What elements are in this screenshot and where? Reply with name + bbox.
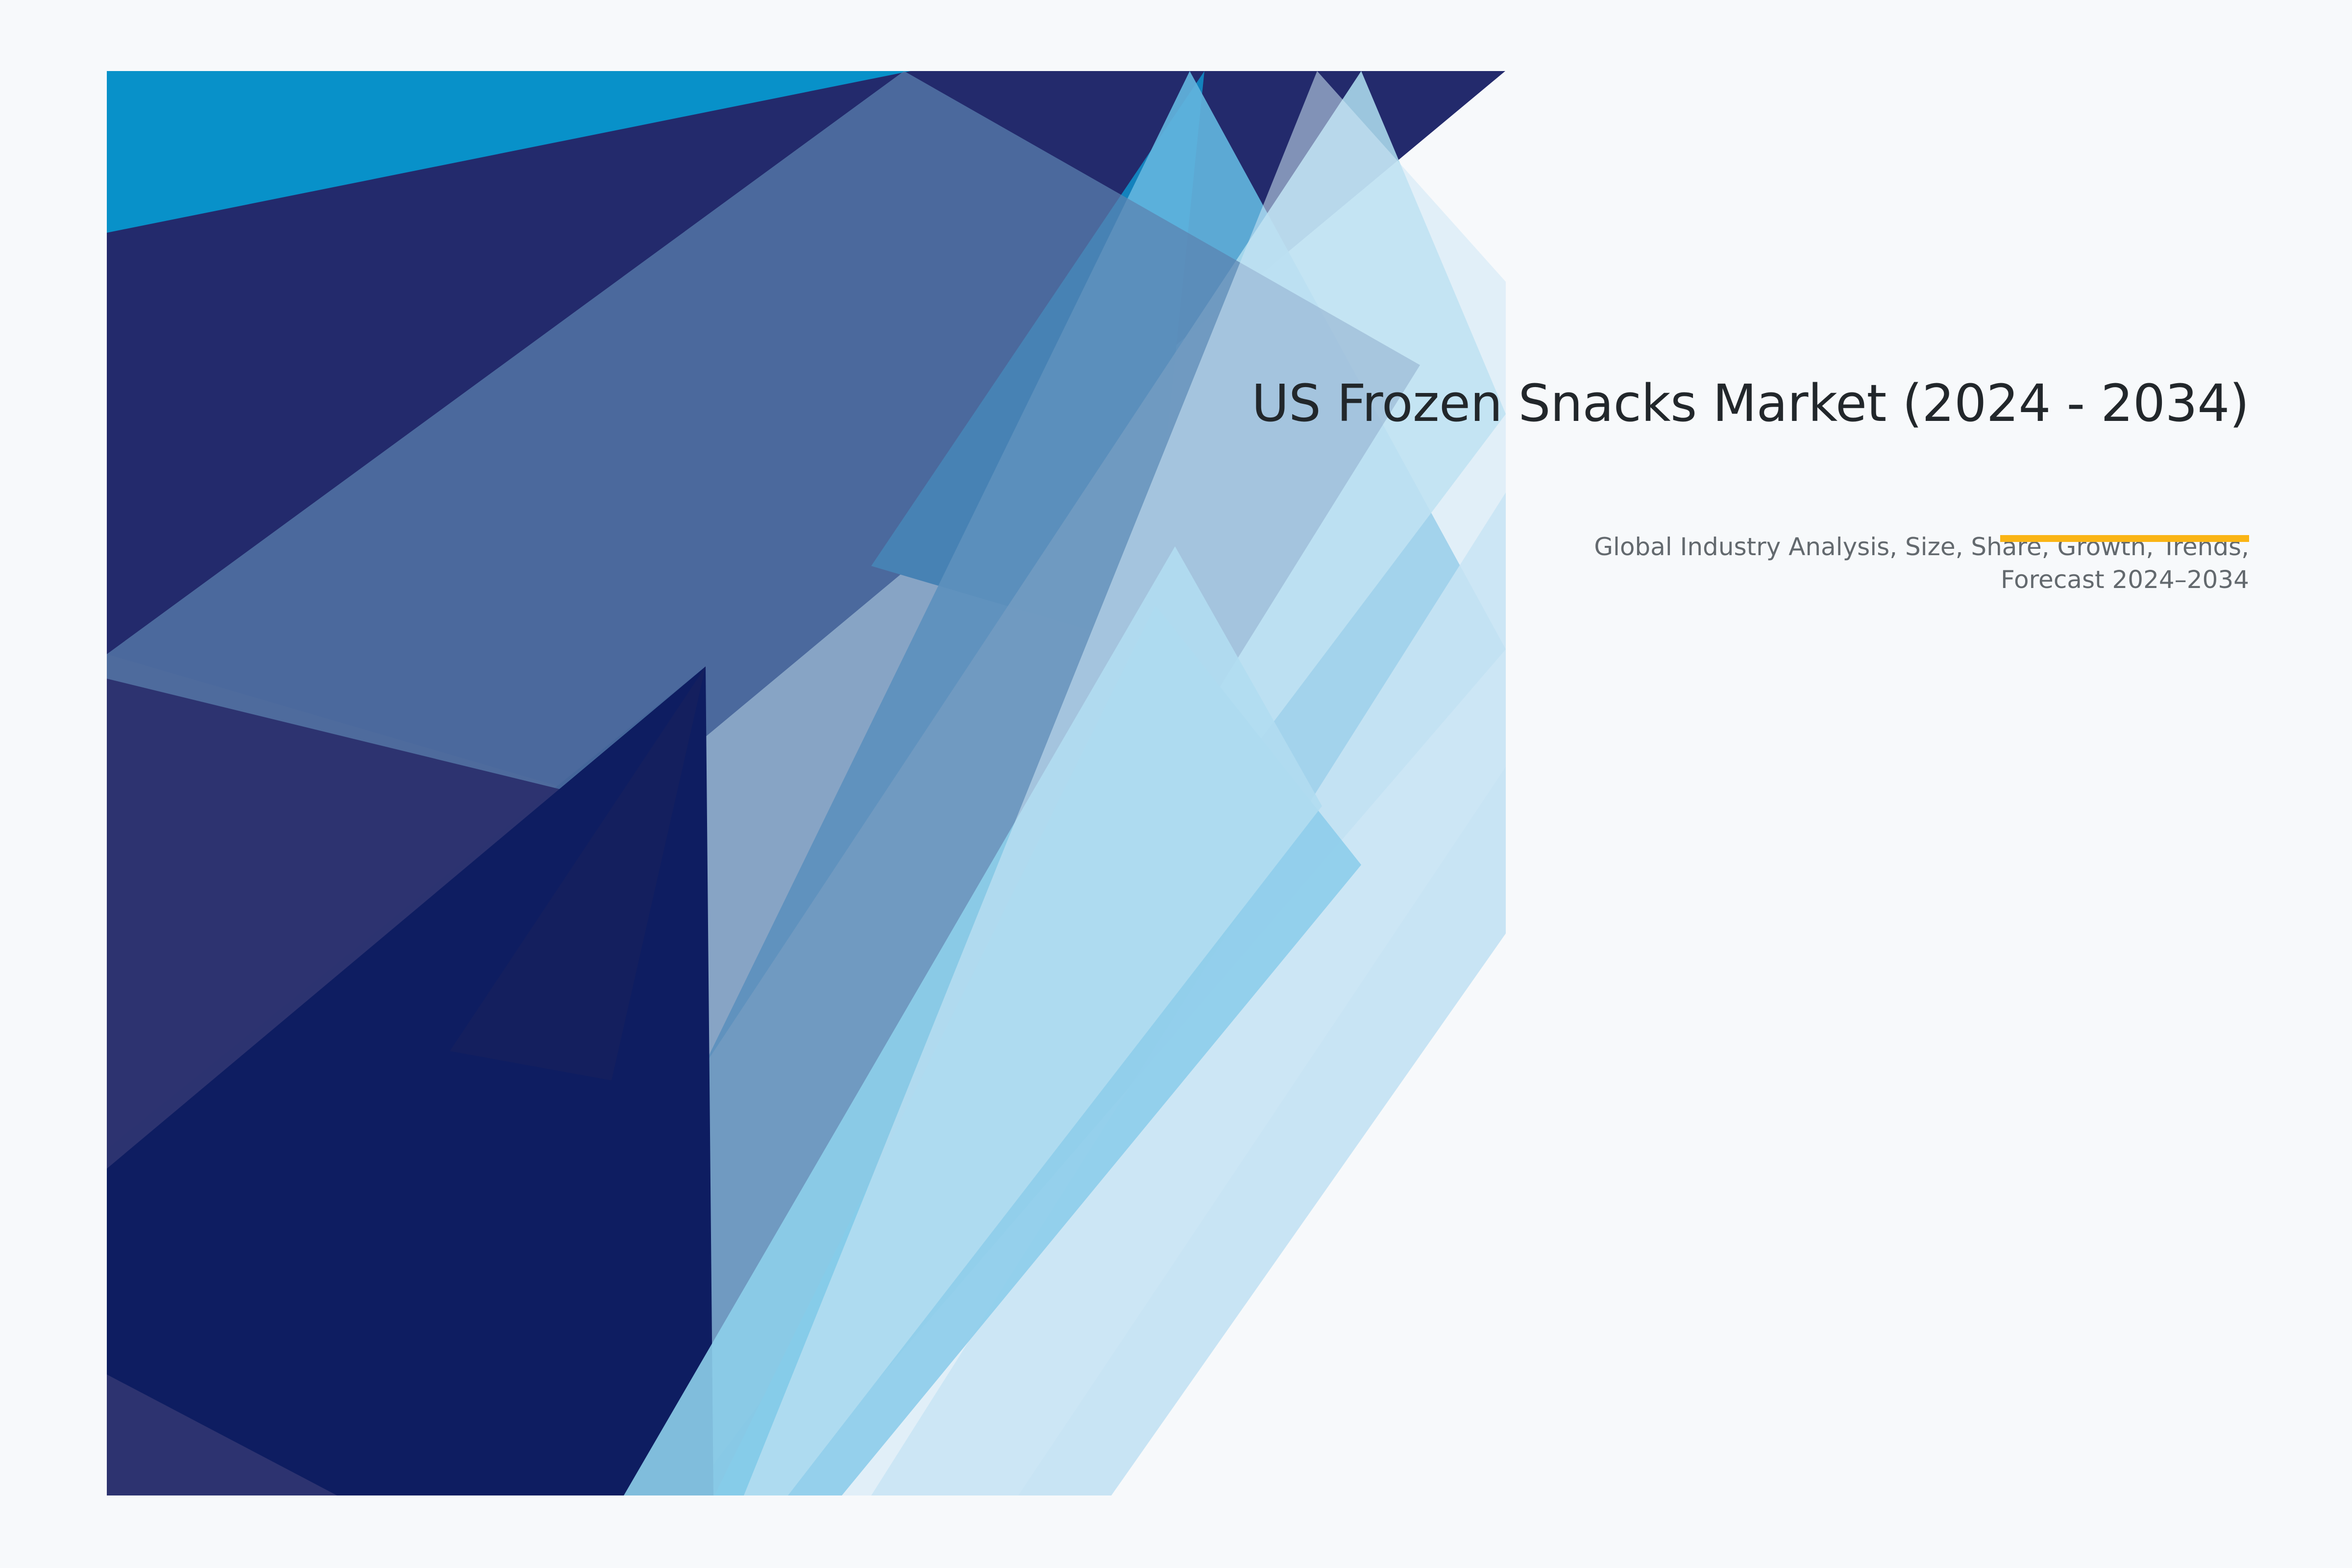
slide-canvas: US Frozen Snacks Market (2024 - 2034) Gl… xyxy=(0,0,2352,1568)
page-title: US Frozen Snacks Market (2024 - 2034) xyxy=(980,372,2249,435)
title-underline-accent xyxy=(2000,535,2249,542)
page-subtitle: Global Industry Analysis, Size, Share, G… xyxy=(980,435,2249,596)
title-wrapper: US Frozen Snacks Market (2024 - 2034) xyxy=(980,372,2249,435)
cover-text-block: US Frozen Snacks Market (2024 - 2034) Gl… xyxy=(980,372,2249,596)
abstract-geometric-cover-graphic xyxy=(107,71,1506,1495)
